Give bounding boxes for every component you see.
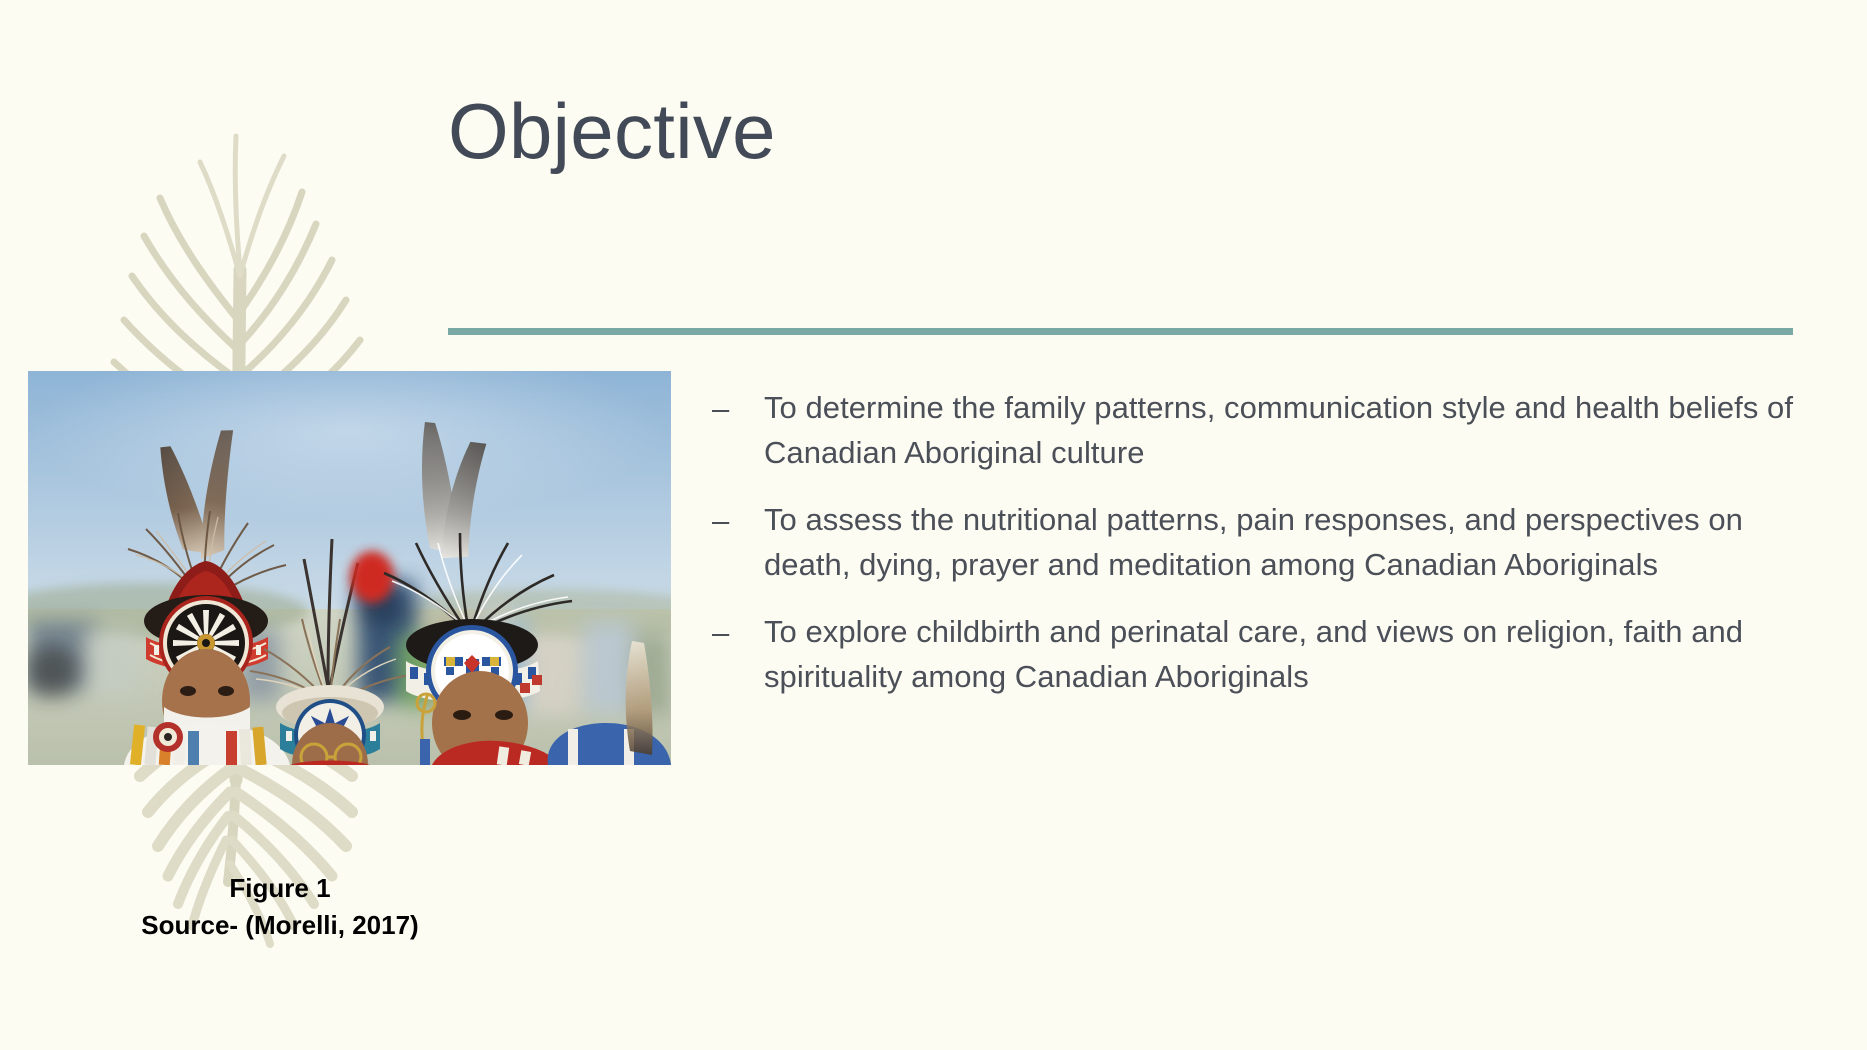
bullet-dash-icon: –: [712, 498, 764, 544]
list-item: – To explore childbirth and perinatal ca…: [712, 610, 1802, 700]
powwow-dancers-photo: [28, 371, 671, 765]
figure-caption-line1: Figure 1: [70, 870, 490, 907]
title-divider-rule: [448, 328, 1793, 335]
list-item: – To determine the family patterns, comm…: [712, 386, 1802, 476]
figure-caption: Figure 1 Source- (Morelli, 2017): [70, 870, 490, 944]
presentation-slide: Objective: [0, 0, 1867, 1050]
bullet-dash-icon: –: [712, 610, 764, 656]
figure-image: [28, 371, 671, 765]
bullet-text: To determine the family patterns, commun…: [764, 386, 1802, 476]
bullet-dash-icon: –: [712, 386, 764, 432]
bullet-text: To assess the nutritional patterns, pain…: [764, 498, 1802, 588]
list-item: – To assess the nutritional patterns, pa…: [712, 498, 1802, 588]
objective-bullet-list: – To determine the family patterns, comm…: [712, 386, 1802, 700]
bullet-text: To explore childbirth and perinatal care…: [764, 610, 1802, 700]
figure-caption-line2: Source- (Morelli, 2017): [70, 907, 490, 944]
slide-title: Objective: [448, 92, 1798, 170]
